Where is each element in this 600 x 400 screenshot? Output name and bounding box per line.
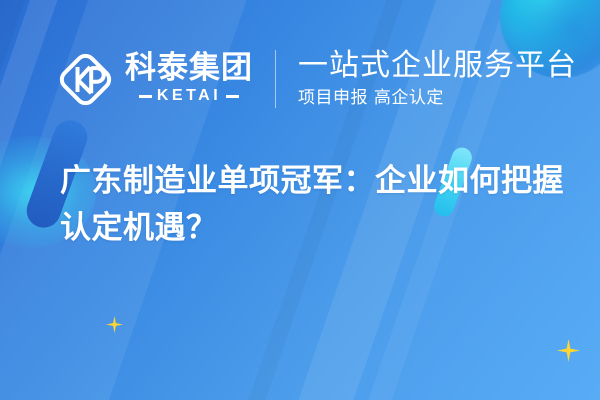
- logo-company-name-en: KETAI: [157, 87, 221, 105]
- logo-dash-right: [226, 95, 239, 98]
- header-divider: [275, 50, 276, 108]
- article-headline: 广东制造业单项冠军：企业如何把握认定机遇？: [60, 158, 570, 252]
- logo-company-name-en-row: KETAI: [125, 87, 253, 105]
- tagline-main-text: 一站式企业服务平台: [298, 49, 577, 84]
- banner-header: 科泰集团 KETAI 一站式企业服务平台 项目申报 高企认定: [0, 40, 600, 118]
- tagline-sub-text: 项目申报 高企认定: [298, 87, 577, 109]
- logo-wordmark: 科泰集团 KETAI: [125, 53, 253, 106]
- article-cover-banner: 科泰集团 KETAI 一站式企业服务平台 项目申报 高企认定 广东制造业单项冠军…: [0, 0, 600, 400]
- sparkle-icon-small: [106, 316, 123, 333]
- brand-tagline: 一站式企业服务平台 项目申报 高企认定: [298, 49, 577, 110]
- logo-company-name-cn: 科泰集团: [125, 53, 253, 85]
- sparkle-icon-large: [557, 339, 580, 362]
- logo-dash-left: [139, 95, 152, 98]
- brand-logo[interactable]: 科泰集团 KETAI: [57, 51, 253, 108]
- kp-diamond-logo-icon: [57, 51, 114, 108]
